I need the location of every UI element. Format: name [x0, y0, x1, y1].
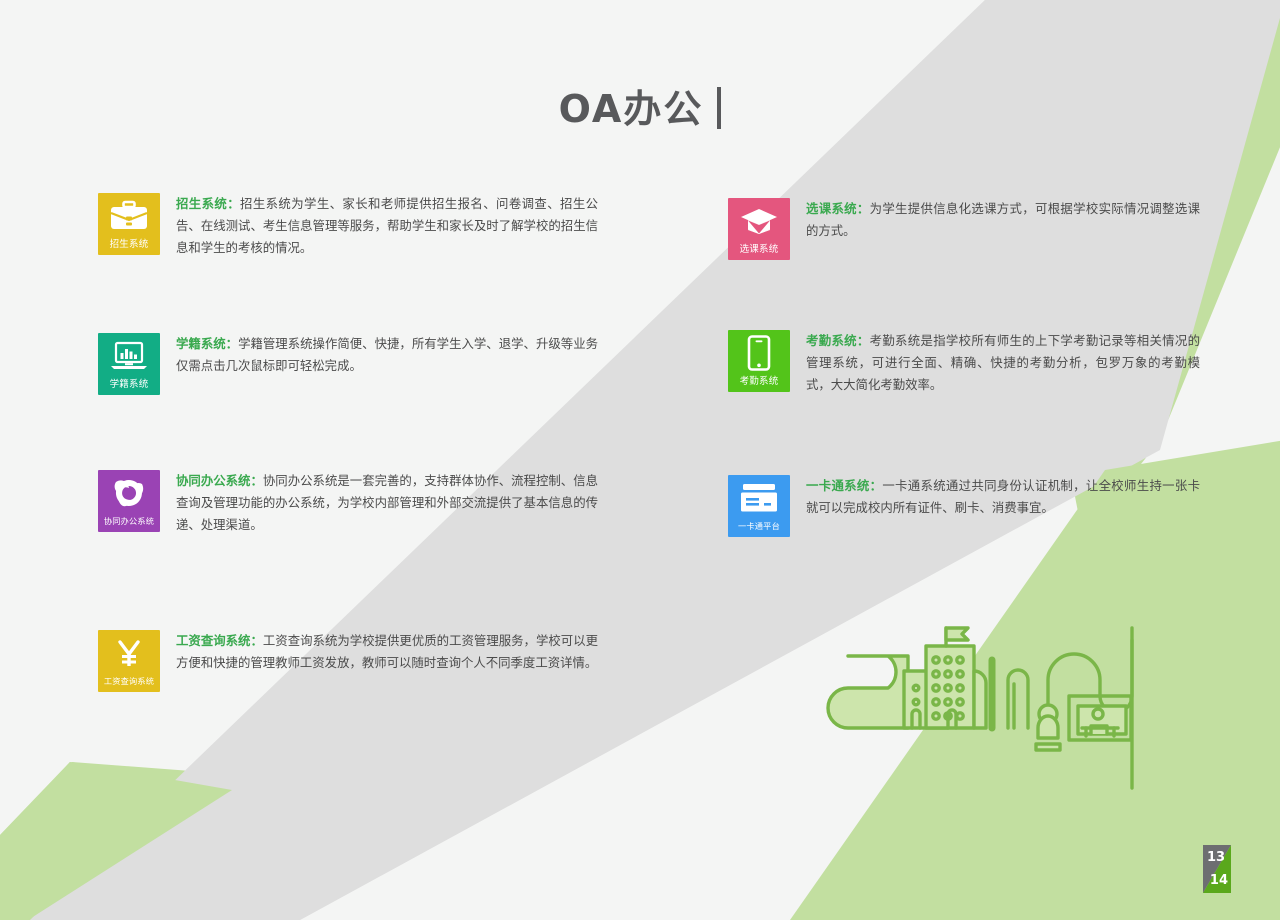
id-card-icon: [728, 477, 790, 519]
icon-caption: 考勤系统: [728, 376, 790, 387]
feature-description-xuanke: 选课系统：为学生提供信息化选课方式，可根据学校实际情况调整选课的方式。: [806, 198, 1200, 242]
icon-caption: 工资查询系统: [98, 676, 160, 687]
feature-item-xietong[interactable]: 协同办公系统 协同办公系统：协同办公系统是一套完善的，支持群体协作、流程控制、信…: [98, 470, 598, 536]
feature-description-xueji: 学籍系统：学籍管理系统操作简便、快捷，所有学生入学、退学、升级等业务仅需点击几次…: [176, 333, 598, 377]
page-total: 14: [1210, 874, 1228, 887]
feature-lead: 学籍系统：: [176, 336, 238, 351]
feature-lead: 协同办公系统：: [176, 473, 263, 488]
feature-lead: 一卡通系统：: [806, 478, 882, 493]
icon-tile-kaoqin[interactable]: 考勤系统: [728, 330, 790, 392]
briefcase-icon: [98, 195, 160, 237]
feature-item-zhaosheng[interactable]: 招生系统 招生系统：招生系统为学生、家长和老师提供招生报名、问卷调查、招生公告、…: [98, 193, 598, 259]
laptop-chart-icon: [98, 335, 160, 377]
collaboration-swirl-icon: [98, 472, 160, 514]
feature-lead: 工资查询系统：: [176, 633, 263, 648]
feature-lead: 选课系统：: [806, 201, 870, 216]
feature-description-xietong: 协同办公系统：协同办公系统是一套完善的，支持群体协作、流程控制、信息查询及管理功…: [176, 470, 598, 536]
feature-item-kaoqin[interactable]: 考勤系统 考勤系统：考勤系统是指学校所有师生的上下学考勤记录等相关情况的管理系统…: [728, 330, 1200, 396]
feature-description-kaoqin: 考勤系统：考勤系统是指学校所有师生的上下学考勤记录等相关情况的管理系统，可进行全…: [806, 330, 1200, 396]
feature-lead: 考勤系统：: [806, 333, 870, 348]
campus-buildings-illustration: [826, 616, 1156, 796]
icon-tile-xuanke[interactable]: 选课系统: [728, 198, 790, 260]
page-title-wrapper: OA办公: [0, 78, 1280, 133]
feature-item-yikatong[interactable]: 一卡通平台 一卡通系统：一卡通系统通过共同身份认证机制，让全校师生持一张卡就可以…: [728, 475, 1200, 537]
smartphone-icon: [728, 332, 790, 374]
feature-description-gongzi: 工资查询系统：工资查询系统为学校提供更优质的工资管理服务，学校可以更方便和快捷的…: [176, 630, 598, 674]
icon-caption: 一卡通平台: [728, 521, 790, 532]
feature-item-xueji[interactable]: 学籍系统 学籍系统：学籍管理系统操作简便、快捷，所有学生入学、退学、升级等业务仅…: [98, 333, 598, 395]
icon-tile-gongzi[interactable]: 工资查询系统: [98, 630, 160, 692]
feature-body: 招生系统为学生、家长和老师提供招生报名、问卷调查、招生公告、在线测试、考生信息管…: [176, 196, 598, 255]
feature-lead: 招生系统：: [176, 196, 240, 211]
feature-description-yikatong: 一卡通系统：一卡通系统通过共同身份认证机制，让全校师生持一张卡就可以完成校内所有…: [806, 475, 1200, 519]
icon-caption: 选课系统: [728, 244, 790, 255]
feature-item-gongzi[interactable]: 工资查询系统 工资查询系统：工资查询系统为学校提供更优质的工资管理服务，学校可以…: [98, 630, 598, 692]
slide-canvas: OA办公 招生系统 招生系统：招生系统为学生、家长和老师提供招生报名、问卷调查、…: [0, 0, 1280, 920]
page-title: OA办公: [559, 78, 704, 133]
yuan-currency-icon: [98, 632, 160, 674]
icon-caption: 协同办公系统: [98, 516, 160, 527]
icon-tile-zhaosheng[interactable]: 招生系统: [98, 193, 160, 255]
title-divider-bar: [717, 87, 721, 129]
page-current: 13: [1207, 851, 1225, 864]
icon-caption: 学籍系统: [98, 379, 160, 390]
feature-item-xuanke[interactable]: 选课系统 选课系统：为学生提供信息化选课方式，可根据学校实际情况调整选课的方式。: [728, 198, 1200, 260]
graduation-cap-icon: [728, 200, 790, 242]
icon-caption: 招生系统: [98, 239, 160, 250]
icon-tile-xueji[interactable]: 学籍系统: [98, 333, 160, 395]
feature-description-zhaosheng: 招生系统：招生系统为学生、家长和老师提供招生报名、问卷调查、招生公告、在线测试、…: [176, 193, 598, 259]
page-number-badge: 13 14: [1203, 845, 1231, 893]
feature-body: 学籍管理系统操作简便、快捷，所有学生入学、退学、升级等业务仅需点击几次鼠标即可轻…: [176, 336, 598, 373]
icon-tile-xietong[interactable]: 协同办公系统: [98, 470, 160, 532]
icon-tile-yikatong[interactable]: 一卡通平台: [728, 475, 790, 537]
